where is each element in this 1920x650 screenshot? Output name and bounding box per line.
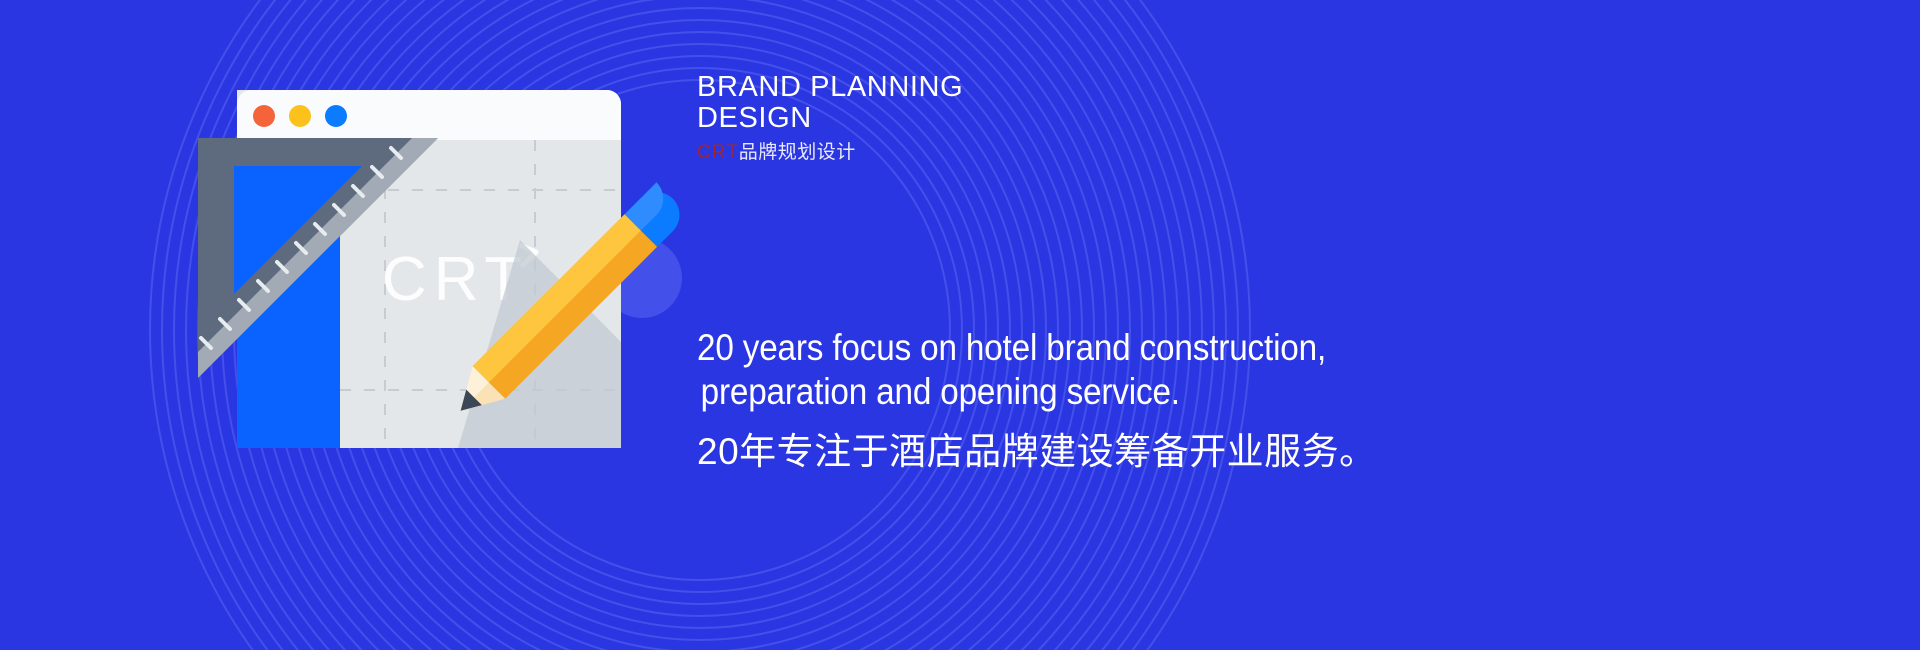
- eyebrow-chinese-text: 品牌规划设计: [739, 142, 856, 163]
- eyebrow-line-1: BRAND PLANNING: [697, 72, 963, 103]
- text-column: BRAND PLANNING DESIGN CRT品牌规划设计 20 years…: [697, 0, 1847, 650]
- headline-block: 20 years focus on hotel brand constructi…: [697, 328, 1396, 474]
- eyebrow-block: BRAND PLANNING DESIGN CRT品牌规划设计: [697, 72, 963, 164]
- close-dot: [253, 105, 275, 127]
- brand-design-illustration: CRT: [190, 60, 720, 480]
- window-controls: [253, 105, 347, 127]
- promo-banner: CRT: [0, 0, 1920, 650]
- eyebrow-line-2: DESIGN: [697, 103, 963, 134]
- headline-chinese: 20年专注于酒店品牌建设筹备开业服务。: [697, 430, 1396, 474]
- brand-mark-crt: CRT: [697, 142, 739, 163]
- maximize-dot: [325, 105, 347, 127]
- headline-english-line-2: preparation and opening service.: [697, 372, 1326, 412]
- eyebrow-chinese: CRT品牌规划设计: [697, 142, 963, 164]
- minimize-dot: [289, 105, 311, 127]
- headline-english-line-1: 20 years focus on hotel brand constructi…: [697, 328, 1326, 368]
